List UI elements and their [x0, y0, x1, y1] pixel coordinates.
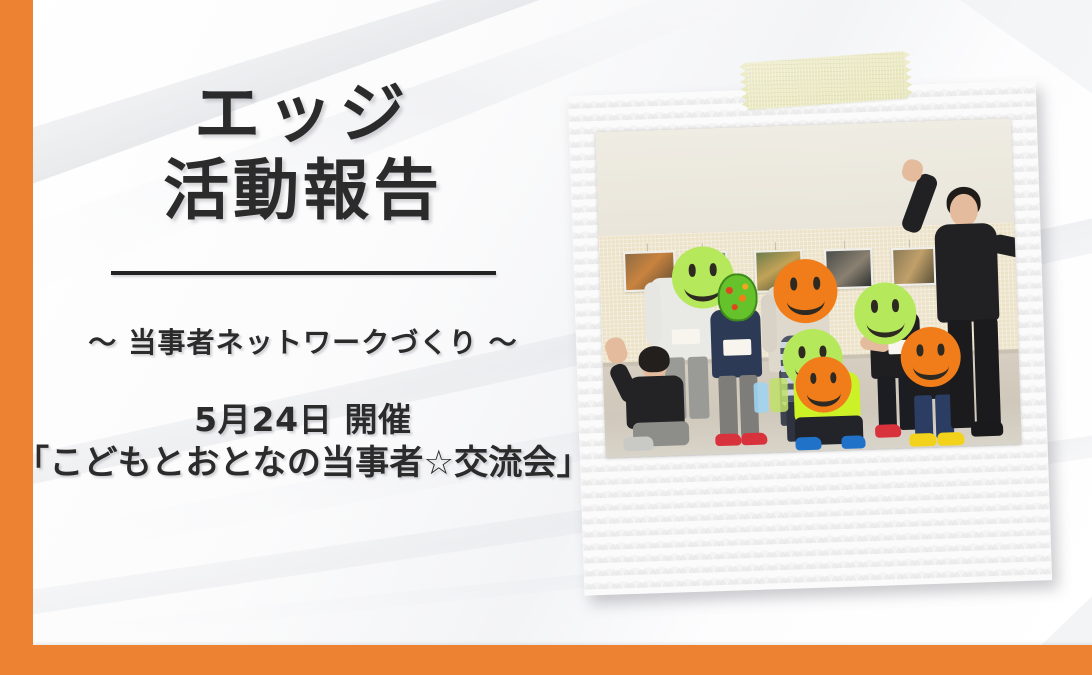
- event-info: 5月24日 開催 「こどもとおとなの当事者☆交流会」: [15, 399, 591, 486]
- subtitle-text: ～ 当事者ネットワークづくり ～: [88, 321, 517, 361]
- leaf-pattern-face-mask: [717, 273, 759, 322]
- event-date: 5月24日 開催: [15, 399, 591, 442]
- accent-bar-left: [0, 0, 33, 675]
- page-title: エッジ 活動報告: [163, 78, 443, 227]
- title-divider: [111, 271, 496, 275]
- wall-picture: [891, 247, 936, 286]
- polaroid-caption-area: [606, 459, 1025, 569]
- slide-canvas: エッジ 活動報告 ～ 当事者ネットワークづくり ～ 5月24日 開催 「こどもと…: [0, 0, 1092, 675]
- text-column: エッジ 活動報告 ～ 当事者ネットワークづくり ～ 5月24日 開催 「こどもと…: [33, 0, 573, 645]
- group-photo: [595, 118, 1022, 458]
- title-line-2: 活動報告: [163, 155, 443, 226]
- title-line-1: エッジ: [194, 75, 412, 152]
- event-title: 「こどもとおとなの当事者☆交流会」: [15, 441, 591, 485]
- polaroid-photo: [568, 80, 1052, 595]
- accent-bar-bottom: [0, 645, 1092, 675]
